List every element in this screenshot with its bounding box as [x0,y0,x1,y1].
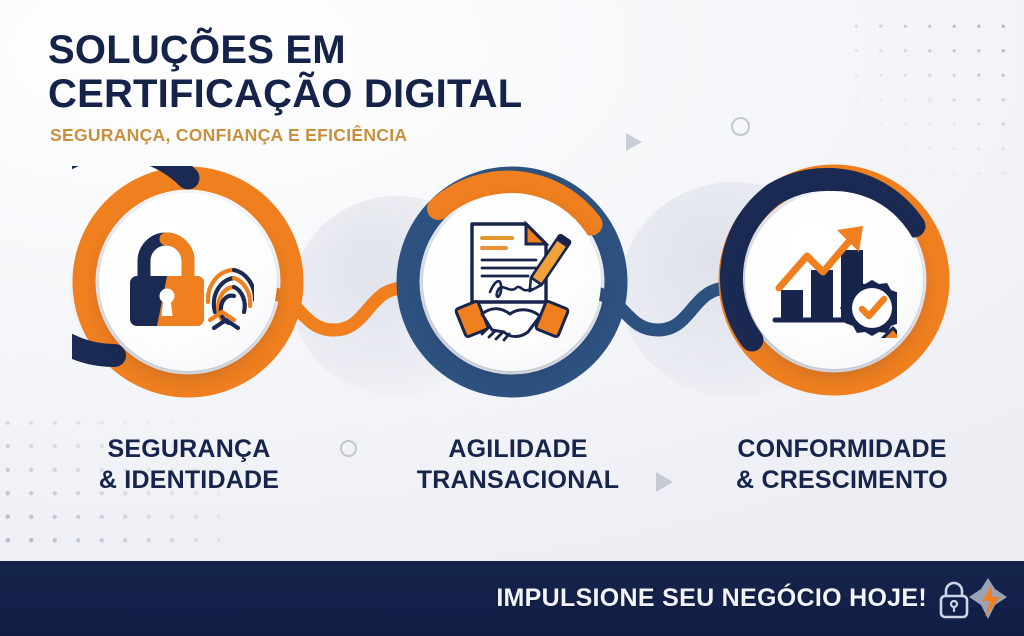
step-card-agilidade-transacional[interactable] [396,166,628,398]
cta-banner-icons [937,577,1008,621]
lightning-bolt-icon [968,577,1008,621]
infographic-canvas: SOLUÇÕES EM CERTIFICAÇÃO DIGITAL SEGURAN… [0,0,1024,636]
caption-line-1: SEGURANÇA [24,434,354,465]
growth-chart-certificate-icon [771,222,897,338]
signed-document-handshake-icon [448,220,576,344]
caption-line-2: & IDENTIDADE [24,465,354,496]
caption-line-2: TRANSACIONAL [353,465,683,496]
padlock-outline-icon [937,579,971,619]
cta-banner-text: IMPULSIONE SEU NEGÓCIO HOJE! [496,584,927,613]
caption-line-2: & CRESCIMENTO [677,465,1007,496]
step-caption-agilidade-transacional: AGILIDADE TRANSACIONAL [353,434,683,496]
step-card-seguranca-identidade[interactable] [72,166,304,398]
step-icon-wrapper-3 [745,191,923,369]
padlock-fingerprint-icon [122,226,254,338]
caption-line-1: CONFORMIDADE [677,434,1007,465]
step-card-conformidade-crescimento[interactable] [718,164,950,396]
step-icon-wrapper-2 [423,193,601,371]
step-icon-wrapper-1 [99,193,277,371]
cta-banner-content: IMPULSIONE SEU NEGÓCIO HOJE! [496,561,1008,636]
step-caption-seguranca-identidade: SEGURANÇA & IDENTIDADE [24,434,354,496]
cta-banner: IMPULSIONE SEU NEGÓCIO HOJE! [0,561,1024,636]
caption-line-1: AGILIDADE [353,434,683,465]
step-caption-conformidade-crescimento: CONFORMIDADE & CRESCIMENTO [677,434,1007,496]
